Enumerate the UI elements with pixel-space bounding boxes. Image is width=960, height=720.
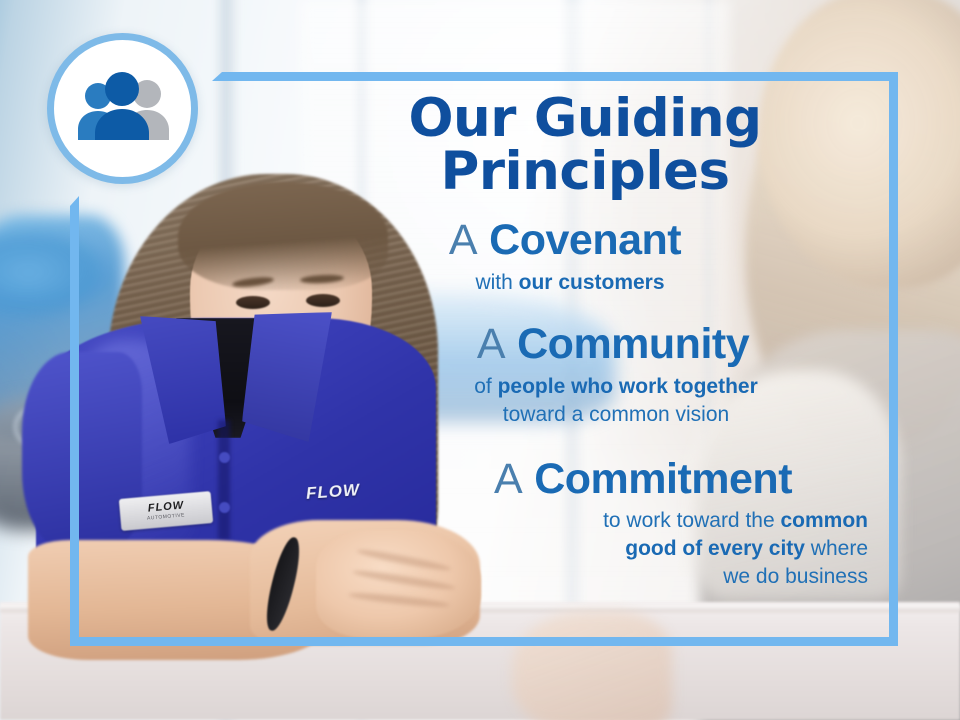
principle-heading: A Community xyxy=(300,322,880,367)
principle-heading: A Covenant xyxy=(300,218,880,263)
customer-hand xyxy=(512,612,672,720)
principle-word: Commitment xyxy=(534,455,792,503)
text-run-bold: our customers xyxy=(519,271,665,294)
text-column: Our Guiding Principles A Covenant with o… xyxy=(300,92,880,590)
text-run: to work toward the xyxy=(603,509,780,532)
principle-article: A xyxy=(477,320,517,368)
principle-community: A Community of people who work together … xyxy=(300,322,880,428)
text-run: we do business xyxy=(723,565,868,588)
shirt-button xyxy=(219,502,230,513)
shirt-button xyxy=(219,452,230,463)
people-group-badge xyxy=(47,33,198,184)
frame-border-top xyxy=(212,72,898,81)
page-title: Our Guiding Principles xyxy=(290,92,880,198)
principle-word: Covenant xyxy=(489,216,681,264)
poster-canvas: FLOW AUTOMOTIVE FLOW Our Guiding Princip… xyxy=(0,0,960,720)
frame-border-bottom xyxy=(70,637,898,646)
principle-body-line: with our customers xyxy=(300,269,840,297)
principle-body-line: toward a common vision xyxy=(352,401,880,429)
principle-body: of people who work together toward a com… xyxy=(300,373,880,428)
text-run-bold: people who work together xyxy=(498,375,758,398)
text-run: of xyxy=(474,375,497,398)
principle-covenant: A Covenant with our customers xyxy=(300,218,880,296)
principle-body-line: good of every city where xyxy=(300,535,868,563)
text-run: toward a common vision xyxy=(503,403,729,426)
principle-body-line: we do business xyxy=(300,563,868,591)
principle-article: A xyxy=(494,455,534,503)
principle-word: Community xyxy=(517,320,749,368)
principle-body-line: to work toward the common xyxy=(300,507,868,535)
people-group-icon xyxy=(71,71,175,147)
frame-border-left xyxy=(70,196,79,646)
principle-article: A xyxy=(449,216,489,264)
text-run-bold: common xyxy=(780,509,868,532)
text-run: with xyxy=(475,271,518,294)
eye-left xyxy=(236,296,270,309)
principle-heading: A Commitment xyxy=(300,457,880,502)
principle-body: to work toward the common good of every … xyxy=(300,507,880,590)
principle-body: with our customers xyxy=(300,269,880,297)
principle-body-line: of people who work together xyxy=(352,373,880,401)
text-run: where xyxy=(805,537,868,560)
frame-border-right xyxy=(889,72,898,646)
principle-commitment: A Commitment to work toward the common g… xyxy=(300,457,880,591)
text-run-bold: good of every city xyxy=(625,537,805,560)
shirt-placket xyxy=(218,420,230,540)
